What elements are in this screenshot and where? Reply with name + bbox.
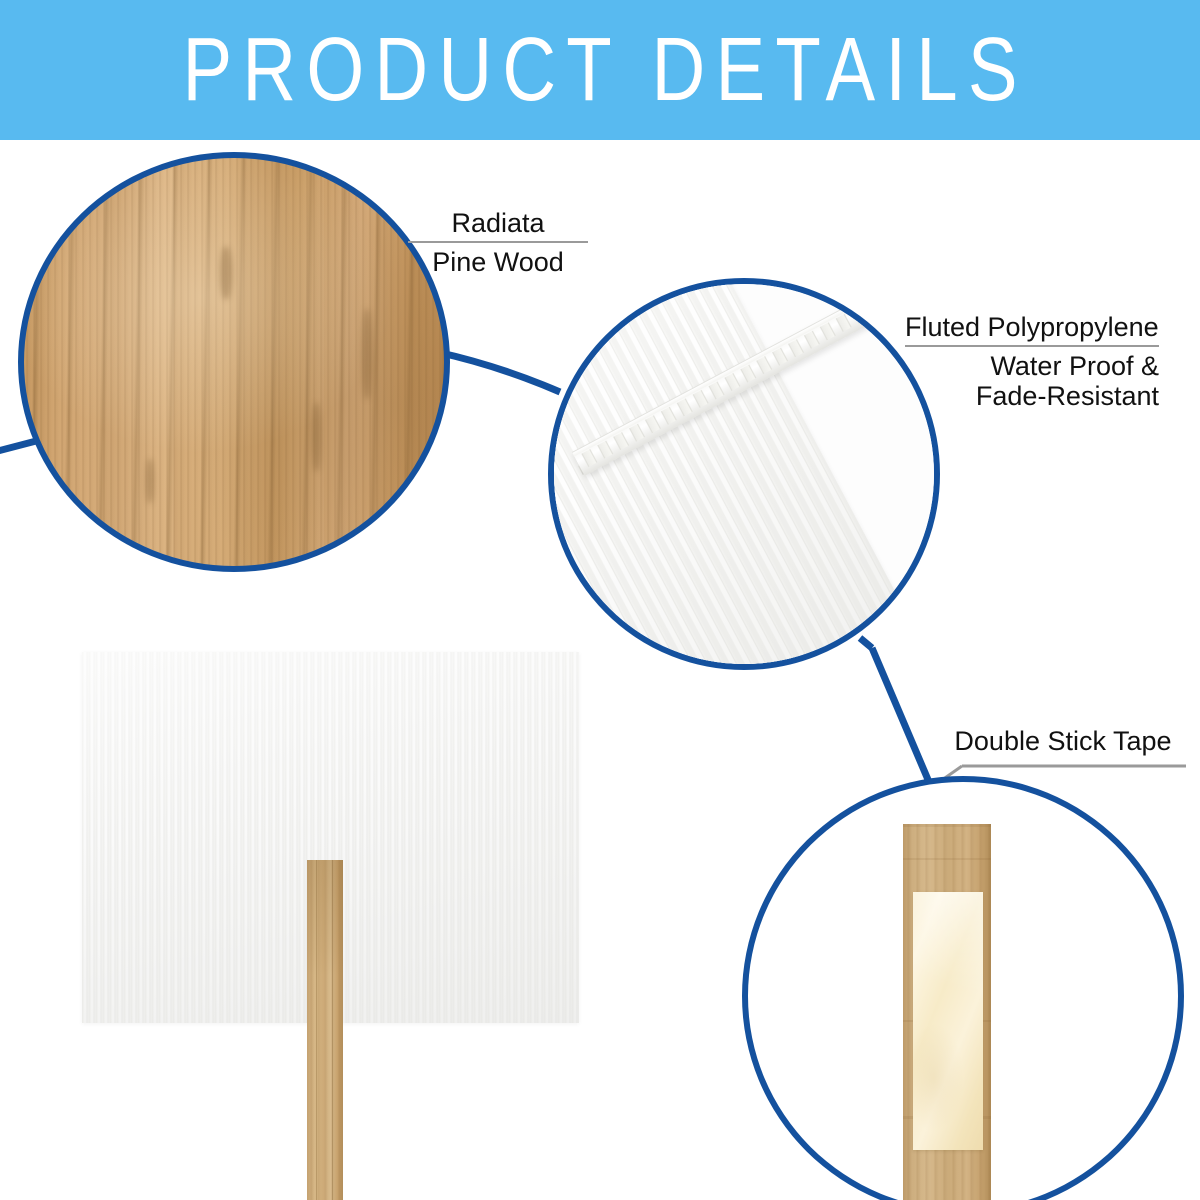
callout-title-double-stick-tape: Double Stick Tape bbox=[948, 726, 1178, 756]
callout-rule-fluted-polypropylene bbox=[905, 345, 1159, 347]
page-title: PRODUCT DETAILS bbox=[42, 0, 1158, 148]
wood-grain-knot bbox=[312, 402, 321, 472]
wood-grain-knot bbox=[220, 246, 232, 300]
coroplast-photo bbox=[554, 284, 934, 664]
header-banner: PRODUCT DETAILS bbox=[0, 0, 1200, 140]
callout-rule-radiata bbox=[408, 241, 588, 243]
wood-sheen-overlay bbox=[24, 158, 444, 566]
stake-grain-band bbox=[903, 824, 991, 827]
connector-wood-to-coroplast bbox=[437, 352, 560, 392]
callout-subtitle-water-proof: Water Proof & bbox=[905, 351, 1159, 381]
detail-circle-double-stick-tape bbox=[742, 776, 1184, 1200]
wood-grain-knot bbox=[362, 308, 372, 400]
callout-label-double-stick-tape: Double Stick Tape bbox=[948, 726, 1178, 756]
product-photo bbox=[82, 652, 579, 1023]
connector-coroplast-to-tape bbox=[872, 648, 929, 782]
tape-gloss-overlay bbox=[913, 892, 983, 1150]
detail-circle-radiata-pine-wood bbox=[18, 152, 450, 572]
callout-title-fluted-polypropylene: Fluted Polypropylene bbox=[905, 312, 1159, 342]
detail-circle-fluted-polypropylene bbox=[548, 278, 940, 670]
stake-edge-line bbox=[316, 860, 317, 1200]
stake-closeup bbox=[903, 824, 991, 1200]
product-details-infographic: PRODUCT DETAILS bbox=[0, 0, 1200, 1200]
callout-subtitle-pine-wood: Pine Wood bbox=[408, 247, 588, 277]
double-stick-tape-strip bbox=[913, 892, 983, 1150]
wood-stake bbox=[307, 860, 343, 1200]
stake-grain-band bbox=[903, 858, 991, 860]
stake-top-shadow bbox=[307, 860, 343, 976]
callout-label-radiata-pine-wood: Radiata Pine Wood bbox=[408, 208, 588, 277]
callout-subtitle-fade-resistant: Fade-Resistant bbox=[905, 381, 1159, 411]
callout-title-radiata: Radiata bbox=[408, 208, 588, 238]
wood-grain-knot bbox=[146, 458, 154, 504]
callout-label-fluted-polypropylene: Fluted Polypropylene Water Proof & Fade-… bbox=[905, 312, 1159, 412]
coroplast-face-shading bbox=[548, 278, 906, 670]
stake-edge-line bbox=[332, 860, 333, 1200]
coroplast-top-face bbox=[548, 278, 906, 670]
